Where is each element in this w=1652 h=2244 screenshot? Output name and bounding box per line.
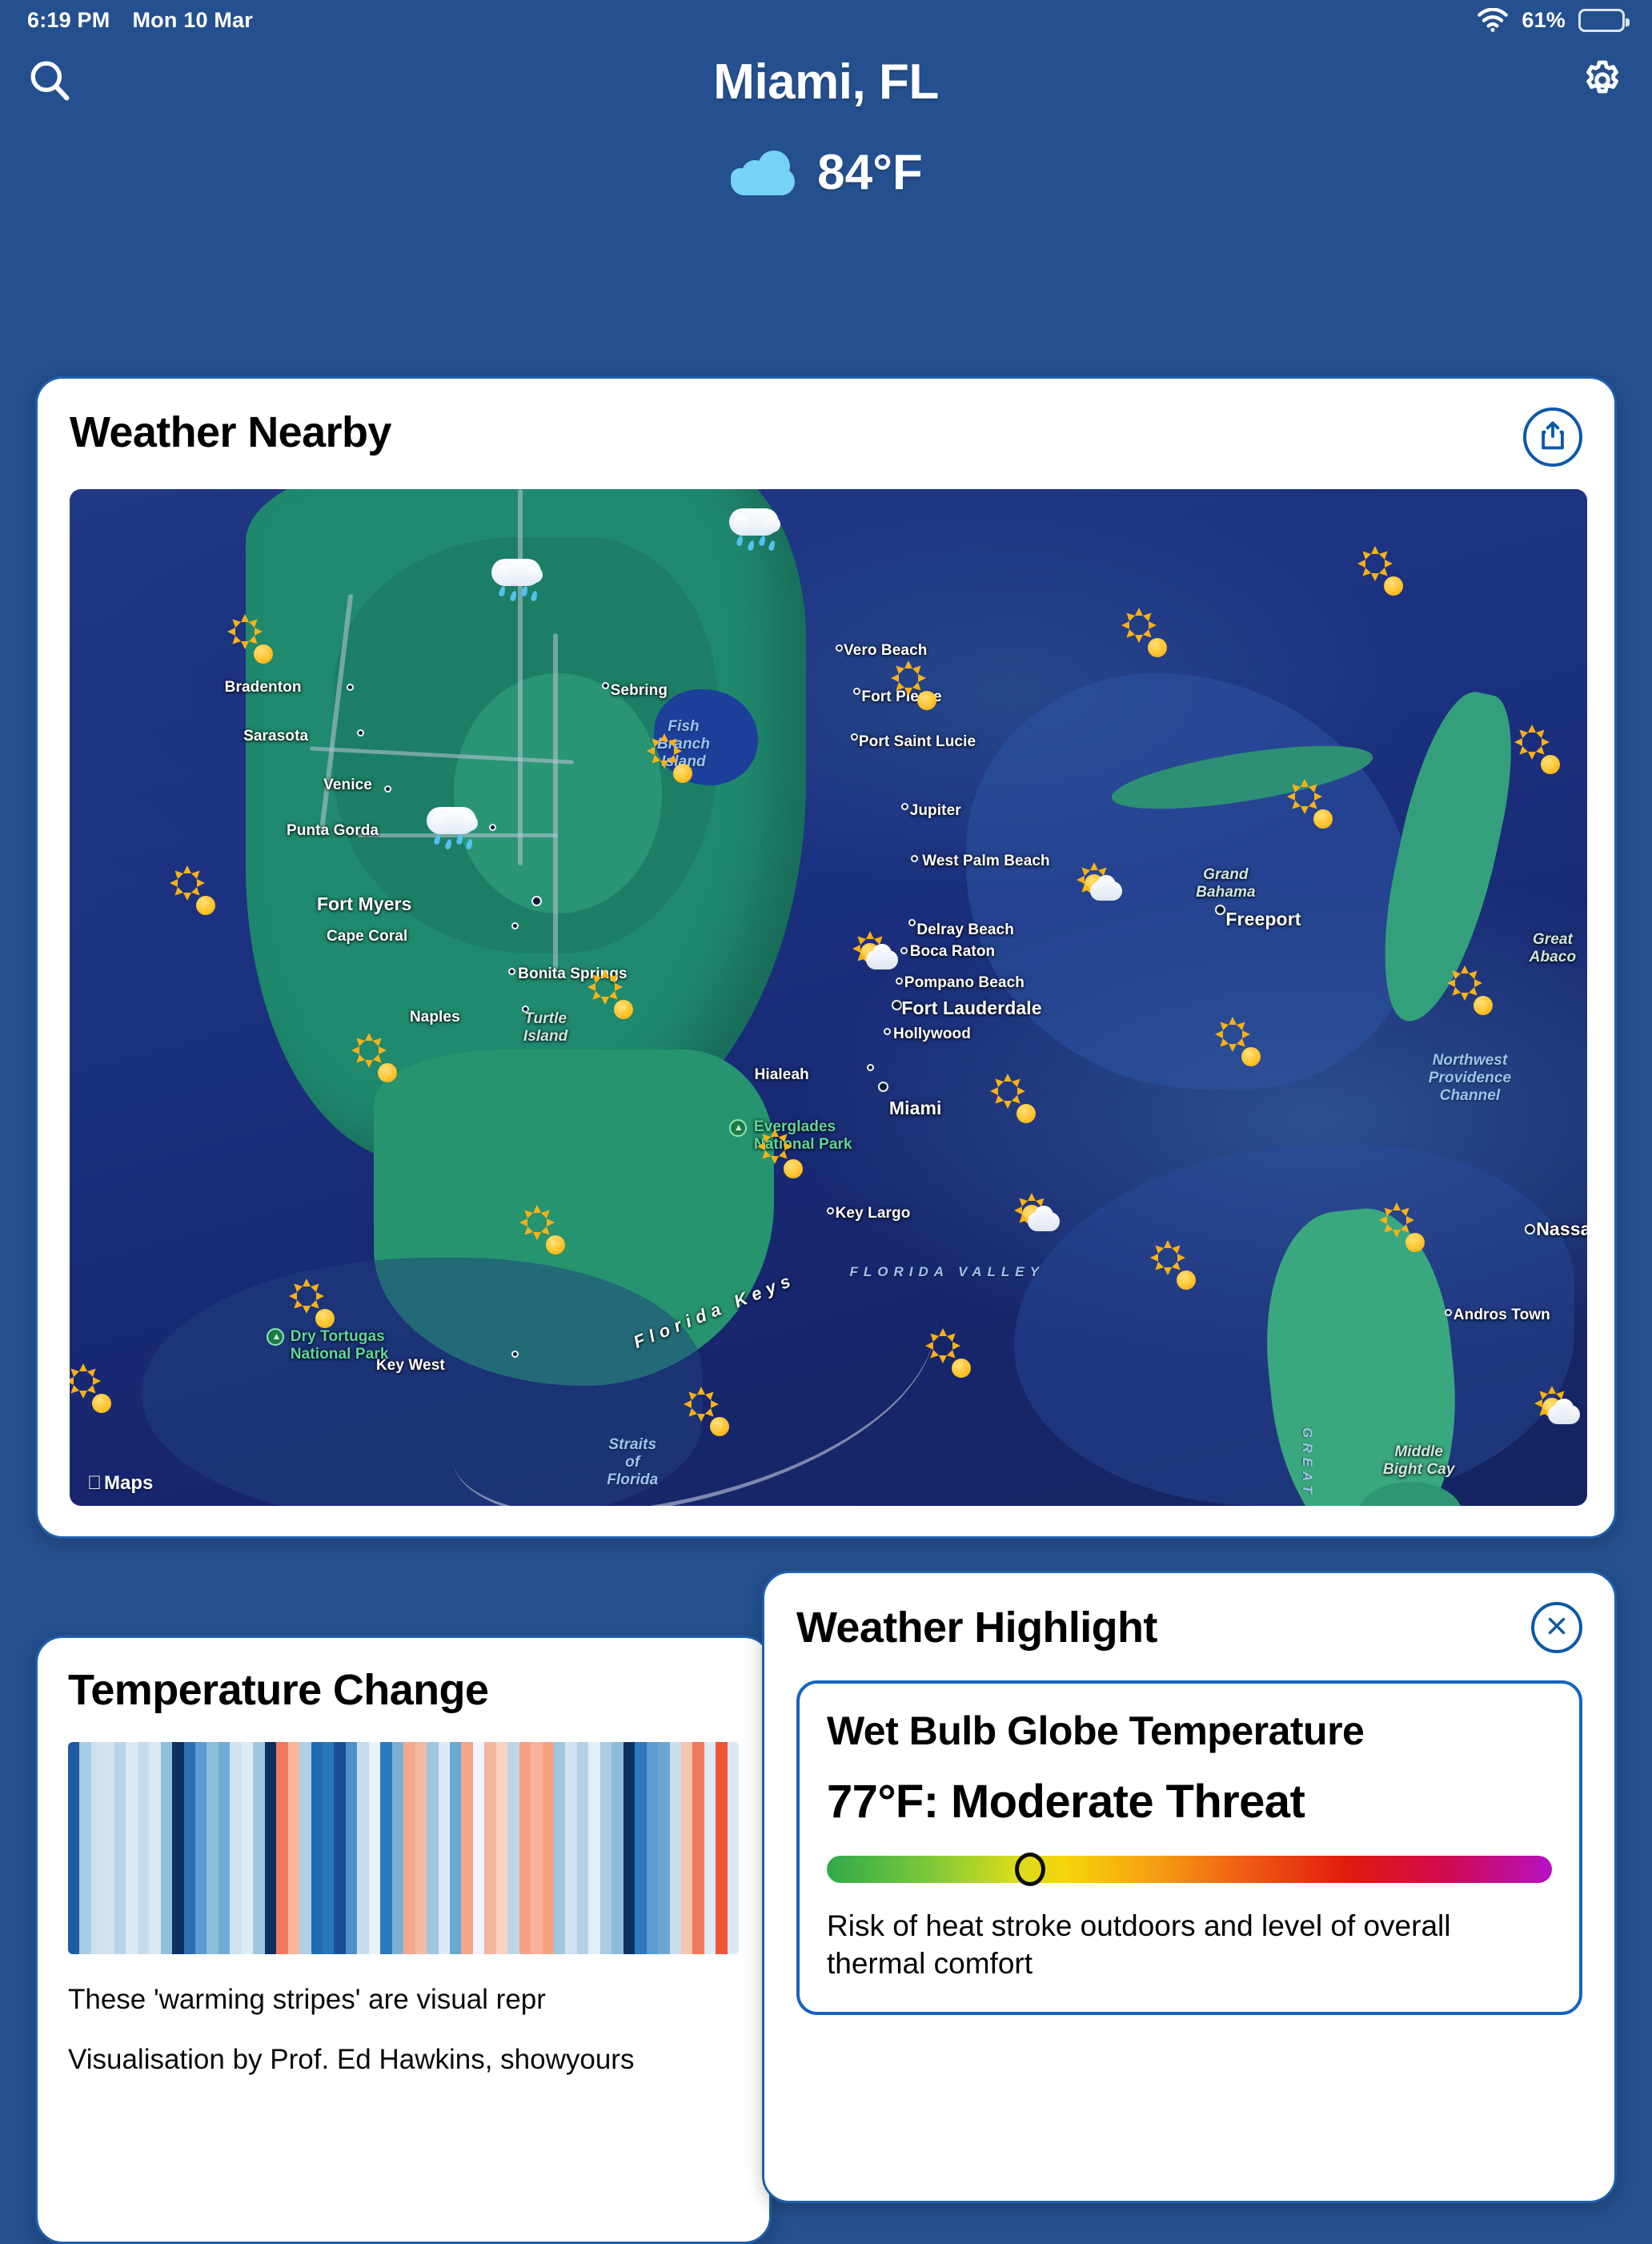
- warming-stripe: [68, 1742, 79, 1954]
- warming-stripe: [161, 1742, 172, 1954]
- map-place-label: Boca Raton: [910, 943, 996, 961]
- warming-stripe: [253, 1742, 264, 1954]
- warming-stripe: [114, 1742, 126, 1954]
- status-date: Mon 10 Mar: [132, 8, 253, 33]
- map-place-dot: [901, 803, 908, 810]
- highlight-metric-value: 77°F: Moderate Threat: [827, 1775, 1552, 1829]
- warming-stripe: [427, 1742, 438, 1954]
- warming-stripe: [681, 1742, 692, 1954]
- settings-button[interactable]: [1574, 54, 1631, 111]
- map-place-label: Sarasota: [243, 728, 308, 745]
- share-button[interactable]: [1523, 407, 1582, 467]
- warming-stripe: [658, 1742, 669, 1954]
- map-place-label: Key Largo: [836, 1205, 911, 1222]
- map-attribution:  Maps: [87, 1472, 153, 1495]
- warming-stripe: [195, 1742, 206, 1954]
- gear-icon: [1580, 58, 1625, 106]
- map-place-label: Great Abaco: [1530, 931, 1577, 966]
- weather-highlight-card: Weather Highlight Wet Bulb Globe Tempera…: [762, 1571, 1617, 2203]
- map-place-label: Grand Bahama: [1196, 866, 1256, 901]
- warming-stripe: [126, 1742, 137, 1954]
- map-place-dot: [511, 922, 519, 929]
- map-place-label: Port Saint Lucie: [859, 733, 976, 751]
- map-place-dot: [1525, 1224, 1535, 1234]
- warming-stripe: [206, 1742, 218, 1954]
- map-place-dot: [357, 729, 364, 737]
- weather-nearby-card: Weather Nearby : [35, 376, 1617, 1539]
- map-place-dot: [900, 947, 908, 954]
- map-place-label: Straits of Florida: [607, 1436, 658, 1489]
- warming-stripe: [230, 1742, 241, 1954]
- map-place-label: Hialeah: [755, 1066, 809, 1084]
- warming-stripe: [357, 1742, 368, 1954]
- warming-stripe: [704, 1742, 716, 1954]
- warming-stripe: [346, 1742, 357, 1954]
- highlight-detail-panel: Wet Bulb Globe Temperature 77°F: Moderat…: [796, 1680, 1582, 2015]
- current-temperature: 84°F: [817, 144, 923, 201]
- battery-icon: [1578, 9, 1625, 32]
- map-place-label: Freeport: [1225, 909, 1301, 930]
- warming-stripes-chart: [68, 1742, 739, 1954]
- apple-logo-icon: : [87, 1472, 102, 1495]
- map-place-label: Miami: [889, 1098, 942, 1119]
- warming-stripe: [380, 1742, 391, 1954]
- map-place-label: Dry Tortugas National Park: [291, 1328, 389, 1363]
- highlight-threat-slider[interactable]: [827, 1856, 1552, 1883]
- map-place-dot: [896, 977, 903, 985]
- app-header: Miami, FL: [0, 40, 1652, 124]
- share-icon: [1536, 419, 1570, 456]
- warming-stripe: [392, 1742, 403, 1954]
- warming-stripe: [611, 1742, 623, 1954]
- warming-stripe: [565, 1742, 576, 1954]
- map-place-label: Hollywood: [893, 1026, 971, 1043]
- warming-stripe: [507, 1742, 519, 1954]
- warming-stripe: [311, 1742, 323, 1954]
- warming-stripe: [647, 1742, 658, 1954]
- map-place-label: Fort Myers: [317, 893, 412, 915]
- map-place-dot: [853, 688, 860, 695]
- map-place-dot: [867, 1064, 874, 1071]
- warming-stripe: [543, 1742, 554, 1954]
- warming-stripe: [439, 1742, 450, 1954]
- warming-stripe: [531, 1742, 542, 1954]
- search-button[interactable]: [21, 54, 78, 111]
- map-place-dot: [511, 1351, 519, 1358]
- page-title: Miami, FL: [713, 54, 938, 110]
- map-place-dot: [911, 855, 918, 862]
- map-place-label: Delray Beach: [916, 921, 1014, 939]
- warming-stripe: [496, 1742, 507, 1954]
- map-place-label: Nassau: [1536, 1218, 1587, 1240]
- warming-stripe: [484, 1742, 495, 1954]
- warming-stripe: [728, 1742, 739, 1954]
- warming-stripe: [219, 1742, 230, 1954]
- close-icon: [1543, 1612, 1570, 1644]
- warming-stripe: [276, 1742, 287, 1954]
- map-place-dot: [908, 919, 916, 926]
- map-place-label: Northwest Providence Channel: [1429, 1052, 1511, 1105]
- warming-stripes-description: These 'warming stripes' are visual repr: [68, 1981, 739, 2018]
- warming-stripe: [369, 1742, 380, 1954]
- status-time: 6:19 PM: [27, 8, 110, 33]
- map-place-label: Cape Coral: [327, 928, 407, 945]
- map-place-dot: [851, 733, 858, 741]
- map-place-label: Bradenton: [225, 679, 302, 696]
- warming-stripe: [554, 1742, 565, 1954]
- warming-stripe: [588, 1742, 599, 1954]
- map-place-label: West Palm Beach: [922, 853, 1050, 870]
- highlight-description: Risk of heat stroke outdoors and level o…: [827, 1907, 1552, 1983]
- warming-stripe: [577, 1742, 588, 1954]
- map-place-label: Pompano Beach: [904, 974, 1024, 992]
- warming-stripe: [450, 1742, 461, 1954]
- map-place-dot: [836, 644, 843, 652]
- current-conditions: 84°F: [0, 124, 1652, 220]
- status-bar: 6:19 PM Mon 10 Mar 61%: [0, 0, 1652, 40]
- temperature-change-card: Temperature Change These 'warming stripe…: [35, 1636, 772, 2244]
- map-place-label: Sebring: [611, 682, 668, 700]
- map-place-label: Venice: [323, 777, 372, 794]
- map-place-label: GREAT: [1299, 1427, 1315, 1498]
- weather-nearby-title: Weather Nearby: [70, 407, 391, 457]
- warming-stripe: [635, 1742, 646, 1954]
- warming-stripe: [242, 1742, 253, 1954]
- warming-stripe: [288, 1742, 299, 1954]
- map-place-label: Naples: [410, 1009, 460, 1026]
- cloud-icon: [729, 149, 796, 195]
- warming-stripe: [461, 1742, 472, 1954]
- warming-stripe: [79, 1742, 90, 1954]
- weather-map[interactable]:  Maps BradentonSarasotaVenicePunta Gord…: [70, 489, 1587, 1506]
- highlight-metric-name: Wet Bulb Globe Temperature: [827, 1708, 1552, 1754]
- warming-stripe: [265, 1742, 276, 1954]
- weather-highlight-title: Weather Highlight: [796, 1603, 1157, 1652]
- warming-stripe: [624, 1742, 635, 1954]
- warming-stripe: [716, 1742, 727, 1954]
- map-place-label: Fort Lauderdale: [901, 998, 1041, 1019]
- warming-stripe: [172, 1742, 183, 1954]
- map-place-label: Andros Town: [1454, 1307, 1550, 1324]
- map-place-label: Middle Bight Cay: [1383, 1443, 1455, 1479]
- warming-stripes-credit: Visualisation by Prof. Ed Hawkins, showy…: [68, 2044, 739, 2076]
- close-button[interactable]: [1531, 1602, 1582, 1653]
- warming-stripe: [299, 1742, 311, 1954]
- warming-stripe: [519, 1742, 531, 1954]
- map-place-dot: [878, 1082, 888, 1092]
- warming-stripe: [138, 1742, 149, 1954]
- map-place-dot: [1215, 905, 1225, 915]
- map-place-label: Punta Gorda: [287, 822, 379, 840]
- warming-stripe: [403, 1742, 415, 1954]
- map-place-label: FLORIDA VALLEY: [849, 1264, 1044, 1280]
- map-place-dot: [827, 1207, 834, 1214]
- map-place-dot: [384, 785, 391, 793]
- warming-stripe: [91, 1742, 102, 1954]
- warming-stripe: [415, 1742, 427, 1954]
- threat-slider-thumb[interactable]: [1015, 1853, 1045, 1886]
- warming-stripe: [184, 1742, 195, 1954]
- warming-stripe: [600, 1742, 611, 1954]
- warming-stripe: [149, 1742, 160, 1954]
- wifi-icon: [1477, 8, 1509, 32]
- warming-stripe: [323, 1742, 334, 1954]
- map-place-label: Jupiter: [910, 802, 961, 820]
- map-place-dot: [489, 824, 496, 831]
- map-place-label: Turtle Island: [523, 1010, 568, 1046]
- warming-stripe: [102, 1742, 114, 1954]
- search-icon: [27, 58, 72, 106]
- warming-stripe: [473, 1742, 484, 1954]
- warming-stripe: [670, 1742, 681, 1954]
- map-place-dot: [884, 1028, 891, 1035]
- map-place-label: Vero Beach: [844, 642, 928, 660]
- battery-percent: 61%: [1522, 8, 1566, 33]
- warming-stripe: [692, 1742, 704, 1954]
- temperature-change-title: Temperature Change: [68, 1665, 739, 1715]
- warming-stripe: [334, 1742, 345, 1954]
